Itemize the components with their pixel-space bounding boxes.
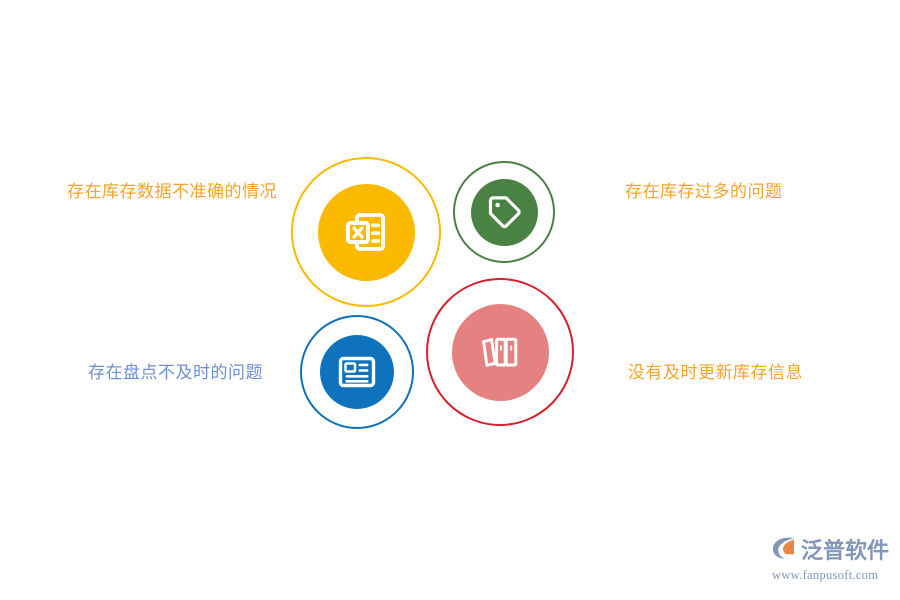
- watermark-url: www.fanpusoft.com: [772, 569, 878, 582]
- node-disc-stock-update: [452, 304, 549, 401]
- node-caption-overstock: 存在库存过多的问题: [625, 182, 783, 202]
- node-circle-overstock[interactable]: [453, 161, 555, 263]
- node-caption-stock-update: 没有及时更新库存信息: [628, 363, 803, 383]
- watermark-wordmark: 泛普软件: [801, 540, 889, 562]
- article-news-icon: [336, 351, 378, 393]
- watermark-logo: 泛普软件 www.fanpusoft.com: [770, 535, 890, 593]
- infographic-canvas: 存在库存数据不准确的情况 存在库存过多的问题: [0, 0, 900, 600]
- node-circle-inventory-accuracy[interactable]: [291, 157, 441, 307]
- node-circle-stock-update[interactable]: [426, 278, 574, 426]
- node-caption-inventory-accuracy: 存在库存数据不准确的情况: [67, 182, 277, 202]
- books-binders-icon: [476, 328, 524, 376]
- node-circle-stocktaking[interactable]: [300, 315, 414, 429]
- spreadsheet-document-icon: [340, 206, 392, 258]
- node-caption-stocktaking: 存在盘点不及时的问题: [88, 363, 263, 383]
- node-disc-inventory-accuracy: [318, 184, 415, 281]
- price-tag-icon: [485, 193, 523, 231]
- node-disc-overstock: [471, 179, 538, 246]
- node-disc-stocktaking: [320, 335, 394, 409]
- watermark-top-row: 泛普软件: [770, 535, 889, 566]
- fanpu-swoosh-logo-icon: [770, 535, 798, 566]
